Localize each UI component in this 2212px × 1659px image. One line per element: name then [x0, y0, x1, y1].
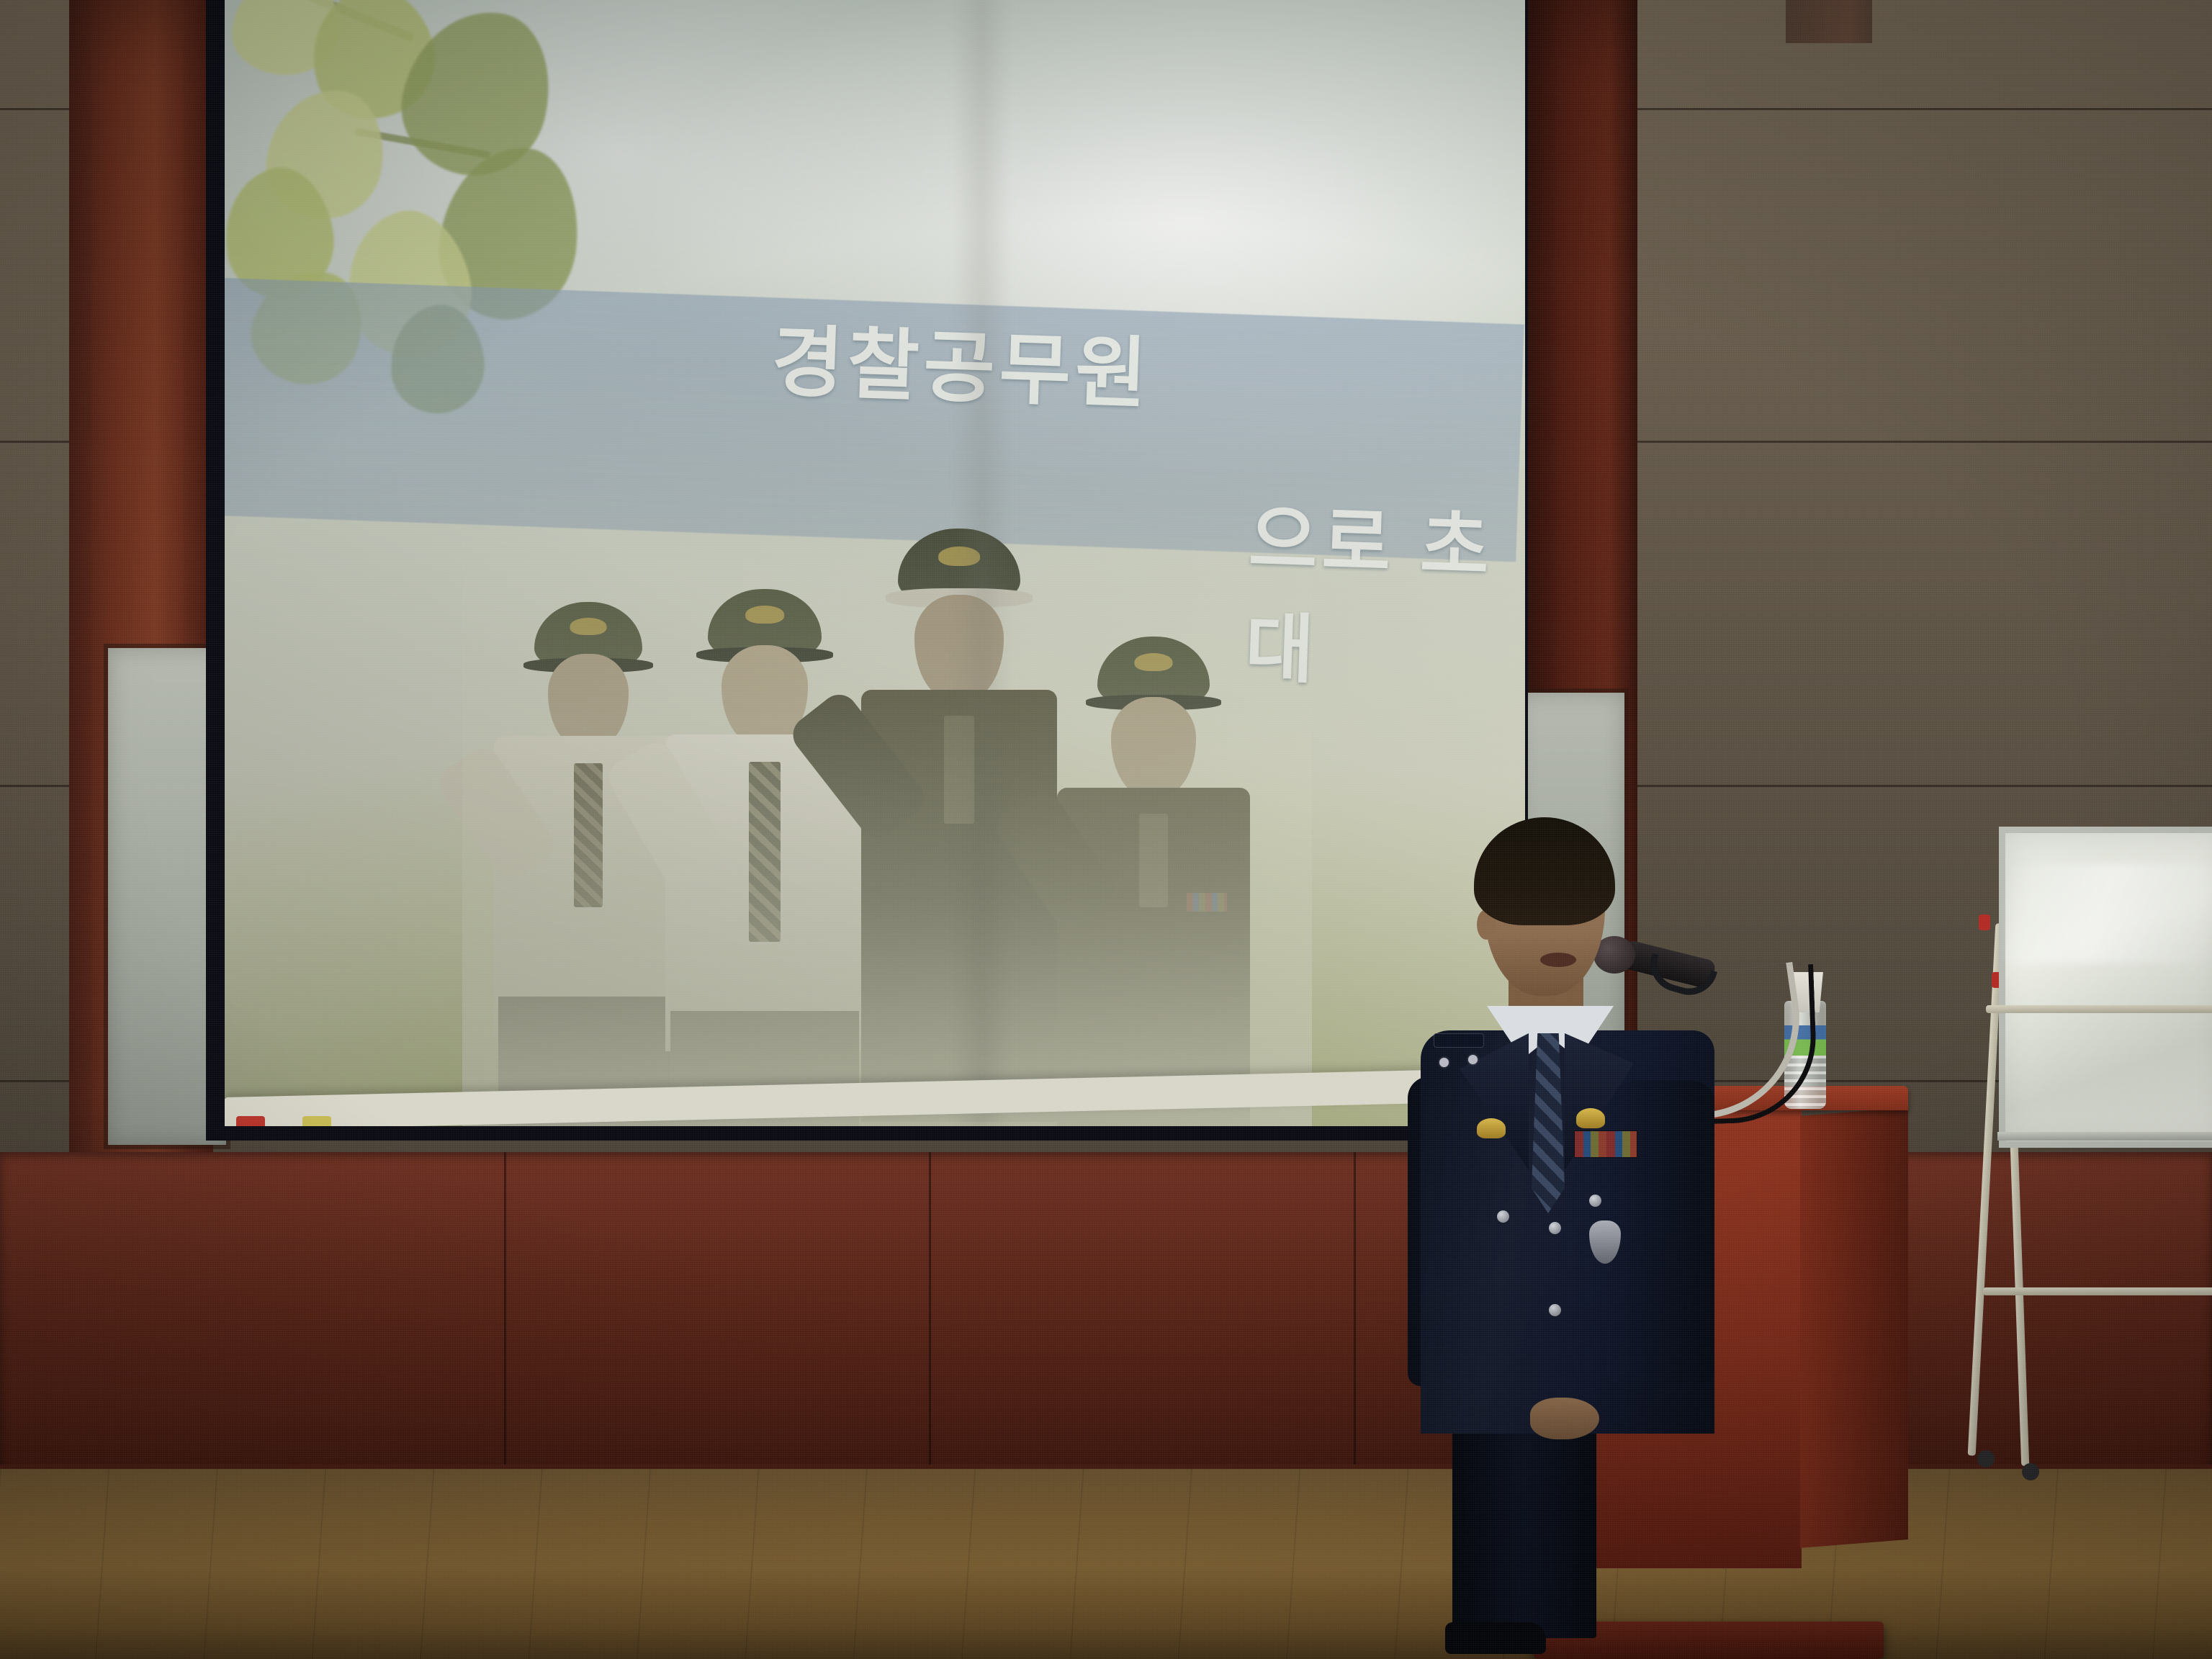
uniform-button [1549, 1304, 1561, 1316]
uniform-button [1549, 1222, 1561, 1234]
whiteboard-caster [1977, 1450, 1995, 1467]
speaker-hair [1474, 817, 1615, 925]
slide-text-layer: 경찰공무원 으로 초대 [225, 0, 1525, 1126]
collar-insignia-icon [1576, 1108, 1605, 1128]
projection-screen: 경찰공무원 으로 초대 [225, 0, 1525, 1126]
rank-pip-icon [1439, 1058, 1449, 1067]
speaker-hand [1530, 1398, 1599, 1439]
presentation-slide: 경찰공무원 으로 초대 [225, 0, 1525, 1126]
whiteboard-marker-tray [1997, 1132, 2212, 1141]
speaker-police-officer [1408, 817, 1725, 1659]
wainscot-seam [929, 1152, 931, 1483]
screen-fabric-fold [953, 0, 1010, 1126]
wainscot-seam [504, 1152, 506, 1483]
speaker-mouth [1540, 953, 1576, 967]
wainscot-seam [1354, 1152, 1356, 1483]
slide-title-line-2: 으로 초대 [1244, 478, 1525, 705]
whiteboard-rail [1983, 1287, 2212, 1295]
whiteboard-surface[interactable] [1999, 827, 2212, 1148]
uniform-button [1497, 1210, 1509, 1223]
speaker-shoulder-board [1434, 1033, 1484, 1048]
speaker-necktie [1532, 1033, 1565, 1213]
speaker-right-arm [1606, 1081, 1714, 1383]
whiteboard-caster [2022, 1463, 2039, 1480]
wood-trim [1786, 0, 1872, 43]
collar-insignia-icon [1477, 1118, 1506, 1138]
whiteboard-glare [2005, 864, 2212, 963]
whiteboard-clip [1979, 914, 1990, 930]
podium-right-face [1800, 1107, 1908, 1548]
screen-pull-tab[interactable] [302, 1116, 331, 1126]
projection-screen-frame: 경찰공무원 으로 초대 [206, 0, 1528, 1141]
whiteboard-rail [1986, 1005, 2212, 1013]
speaker-shoe [1445, 1622, 1546, 1654]
rank-pip-icon [1468, 1055, 1478, 1064]
medal-ribbons [1575, 1131, 1637, 1157]
screen-pull-tab[interactable] [236, 1116, 265, 1126]
auditorium-scene: 경찰공무원 으로 초대 [0, 0, 2212, 1659]
uniform-button [1589, 1195, 1601, 1207]
mobile-whiteboard[interactable] [1977, 827, 2212, 1482]
